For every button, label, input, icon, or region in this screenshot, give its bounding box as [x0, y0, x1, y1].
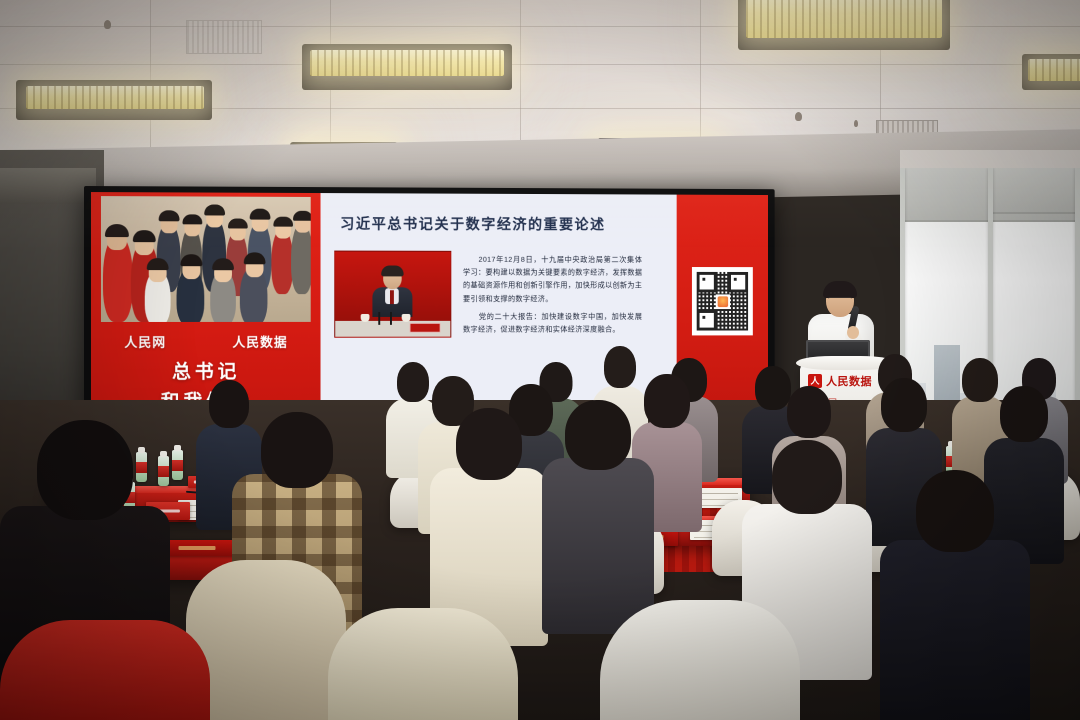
ceiling-light [1028, 59, 1080, 81]
audience-member [0, 620, 210, 720]
water-bottle [172, 450, 183, 480]
ceiling-light [26, 86, 204, 109]
sprinkler-icon [104, 20, 111, 29]
renminwang-logo: 人民网 [124, 331, 166, 350]
qr-code-icon [692, 267, 753, 335]
ceiling-light [746, 0, 942, 38]
audience-member [328, 608, 518, 720]
slide-paragraph-1-text: 2017年12月8日，十九届中央政治局第二次集体学习：要构建以数据为关键要素的数… [463, 255, 642, 303]
slide-paragraph-2-text: 党的二十大报告：加快建设数字中国，加快发展数字经济，促进数字经济和实体经济深度融… [463, 312, 642, 334]
audience-member [186, 560, 346, 720]
renmin-data-logo: 人民数据 [232, 331, 287, 350]
slide-paragraph-2: 党的二十大报告：加快建设数字中国，加快发展数字经济，促进数字经济和实体经济深度融… [463, 310, 642, 336]
audience-member [880, 470, 1030, 720]
group-photo [101, 196, 311, 322]
conference-room-photo: 人民网 人民数据 总书记 和我们在 习近平总书记关于数字经济的重要论述 [0, 0, 1080, 720]
slide-title: 习近平总书记关于数字经济的重要论述 [340, 213, 605, 235]
leader-photo [334, 251, 451, 338]
sprinkler-icon [795, 112, 802, 121]
ceiling-access-panel [186, 20, 262, 54]
sprinkler-icon [854, 120, 858, 127]
slide-brand-logos: 人民网 人民数据 [91, 328, 321, 354]
window-blind[interactable] [992, 168, 1080, 214]
document-folder [160, 540, 234, 556]
audience-member [430, 408, 548, 638]
audience-member [600, 600, 800, 720]
ceiling-light [310, 50, 504, 76]
left-wall-panel [0, 168, 96, 204]
audience-member [542, 400, 654, 630]
slide-paragraph-1: 2017年12月8日，十九届中央政治局第二次集体学习：要构建以数据为关键要素的数… [463, 253, 642, 305]
